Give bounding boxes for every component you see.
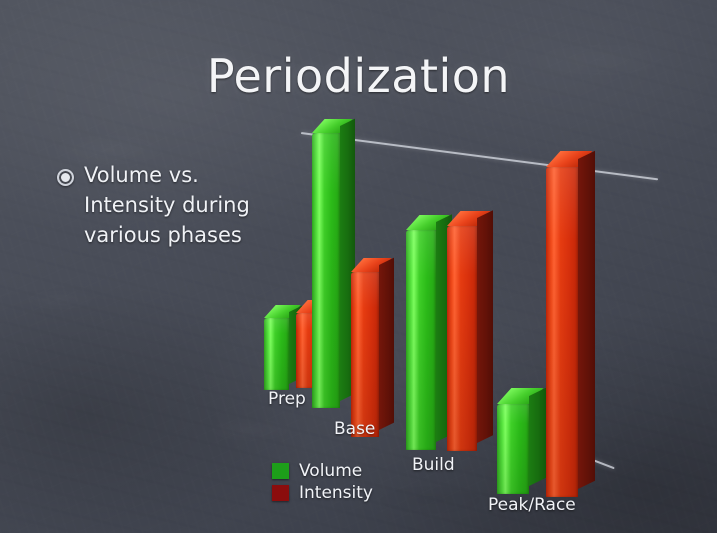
bar-front-face xyxy=(406,230,436,450)
bar-front-face xyxy=(497,404,529,494)
bar-front-face xyxy=(264,318,289,390)
bar-front-face xyxy=(546,167,578,497)
category-label-build: Build xyxy=(412,455,455,475)
legend-swatch-volume xyxy=(272,463,289,479)
bar-volume-base xyxy=(312,133,340,408)
bar-volume-peak xyxy=(497,404,529,494)
category-label-peak: Peak/Race xyxy=(488,495,576,515)
bar-intensity-peak xyxy=(546,167,578,497)
category-label-prep: Prep xyxy=(268,389,306,409)
bar-side-face xyxy=(529,388,546,486)
bar-front-face xyxy=(447,226,477,451)
chart-legend: Volume Intensity xyxy=(272,461,373,505)
bar-chart-3d: Prep Base Build xyxy=(0,0,717,533)
slide-canvas: Periodization Volume vs. Intensity durin… xyxy=(0,0,717,533)
bar-volume-prep xyxy=(264,318,289,390)
legend-item-volume: Volume xyxy=(272,461,373,481)
bar-front-face xyxy=(351,272,379,437)
legend-label-intensity: Intensity xyxy=(299,483,373,503)
legend-swatch-intensity xyxy=(272,485,289,501)
category-label-base: Base xyxy=(334,419,375,439)
bar-intensity-base xyxy=(351,272,379,437)
bar-side-face xyxy=(379,258,394,430)
legend-label-volume: Volume xyxy=(299,461,362,481)
bar-side-face xyxy=(578,151,595,489)
bar-volume-build xyxy=(406,230,436,450)
bar-side-face xyxy=(477,210,493,443)
bar-intensity-build xyxy=(447,226,477,451)
bar-front-face xyxy=(312,133,340,408)
legend-item-intensity: Intensity xyxy=(272,483,373,503)
